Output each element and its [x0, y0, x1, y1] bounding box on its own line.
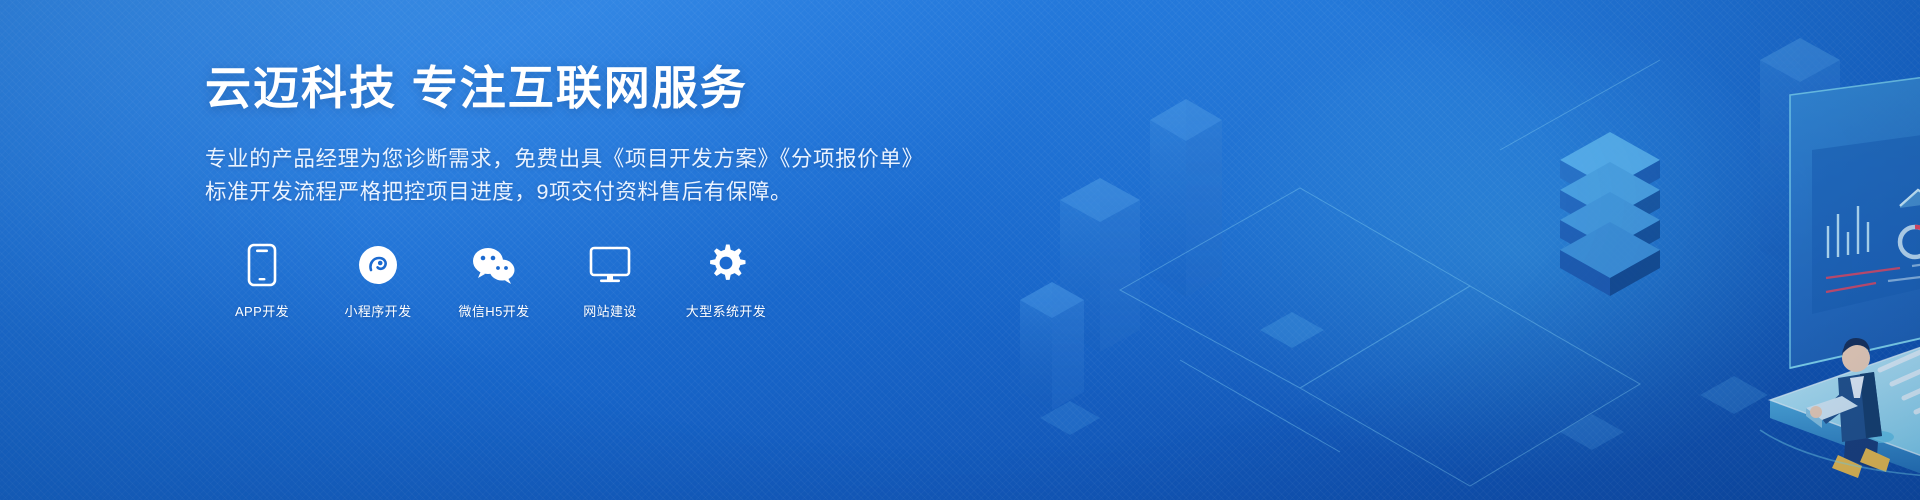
service-label: APP开发: [235, 301, 289, 320]
service-item-website[interactable]: 网站建设: [567, 243, 653, 320]
monitor-icon: [589, 243, 631, 287]
banner-subtitle: 专业的产品经理为您诊断需求，免费出具《项目开发方案》《分项报价单》 标准开发流程…: [205, 143, 925, 209]
subtitle-line-2: 标准开发流程严格把控项目进度，9项交付资料售后有保障。: [205, 176, 925, 209]
chart-panel-left: [1812, 123, 1920, 314]
service-item-system[interactable]: 大型系统开发: [683, 243, 769, 320]
service-label: 大型系统开发: [686, 301, 766, 320]
service-item-app[interactable]: APP开发: [219, 243, 305, 320]
banner-content: 云迈科技 专注互联网服务 专业的产品经理为您诊断需求，免费出具《项目开发方案》《…: [205, 62, 925, 320]
service-item-wechat[interactable]: 微信H5开发: [451, 243, 537, 320]
mini-program-icon: [358, 243, 398, 287]
service-label: 小程序开发: [344, 301, 411, 320]
page-title: 云迈科技 专注互联网服务: [205, 62, 925, 115]
service-label: 网站建设: [583, 301, 637, 320]
service-label: 微信H5开发: [458, 301, 529, 320]
dashboard-screen: [1790, 55, 1920, 368]
gear-icon: [705, 243, 747, 287]
mobile-phone-icon: [247, 243, 277, 287]
isometric-illustration: [1000, 0, 1920, 500]
promo-banner: 云迈科技 专注互联网服务 专业的产品经理为您诊断需求，免费出具《项目开发方案》《…: [0, 0, 1920, 500]
service-list: APP开发 小程序开发: [219, 243, 925, 320]
service-item-miniprogram[interactable]: 小程序开发: [335, 243, 421, 320]
server-stack: [1560, 132, 1660, 296]
wechat-icon: [471, 243, 517, 287]
subtitle-line-1: 专业的产品经理为您诊断需求，免费出具《项目开发方案》《分项报价单》: [205, 143, 925, 176]
